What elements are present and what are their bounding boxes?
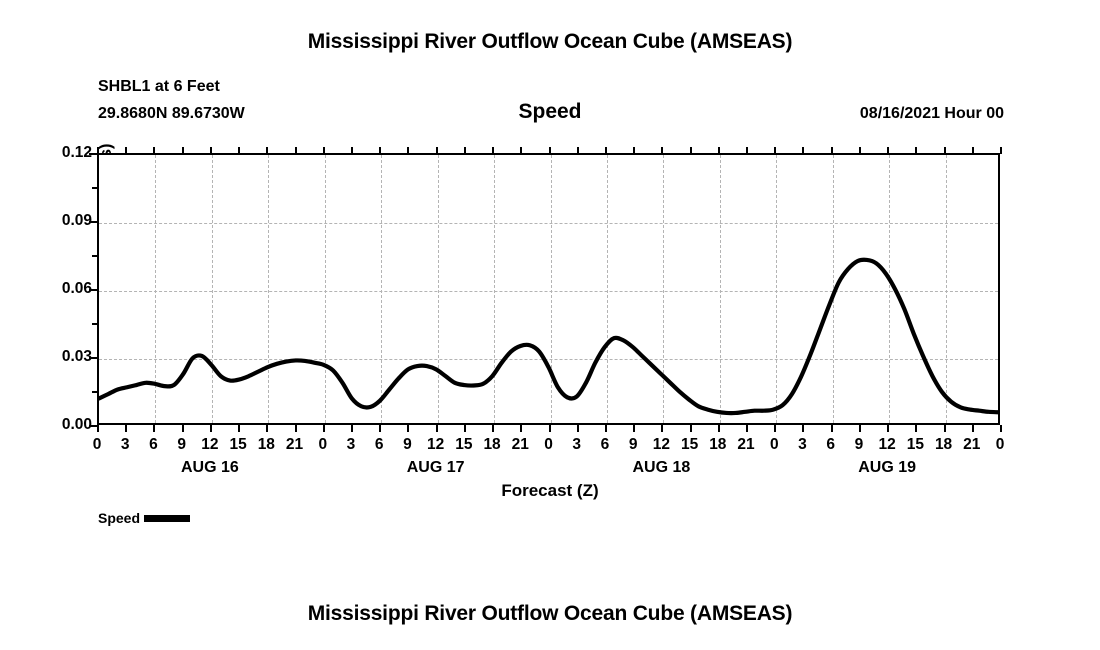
x-axis-tick-mark — [802, 425, 804, 432]
footer-title: Mississippi River Outflow Ocean Cube (AM… — [0, 602, 1100, 626]
x-axis-tick-mark — [661, 425, 663, 432]
x-axis-tick-mark — [859, 425, 861, 432]
speed-line-path — [99, 260, 998, 413]
y-axis-tick-label: 0.12 — [22, 144, 92, 162]
model-run-label: 08/16/2021 Hour 00 — [860, 105, 1004, 123]
x-axis-tick-mark — [1000, 425, 1002, 432]
x-axis-tick-mark — [605, 425, 607, 432]
x-axis-tick-mark — [295, 425, 297, 432]
x-axis-tick-mark — [492, 425, 494, 432]
x-axis-tick-mark — [351, 425, 353, 432]
x-axis-tick-mark — [774, 425, 776, 432]
x-axis-tick-mark — [944, 425, 946, 432]
y-axis-tick-label: 0.06 — [22, 280, 92, 298]
x-axis-tick-mark — [831, 425, 833, 432]
x-axis-day-label: AUG 17 — [366, 459, 506, 477]
x-axis-tick-mark — [182, 425, 184, 432]
x-axis-tick-mark — [379, 425, 381, 432]
plot-inner — [99, 155, 998, 423]
y-axis-tick-mark — [89, 425, 97, 427]
x-axis-tick-mark — [887, 425, 889, 432]
x-axis-tick-mark — [464, 425, 466, 432]
y-axis-tick-label: 0.09 — [22, 212, 92, 230]
x-axis-tick-mark — [915, 425, 917, 432]
page-title: Mississippi River Outflow Ocean Cube (AM… — [0, 30, 1100, 54]
y-axis-tick-label: 0.00 — [22, 416, 92, 434]
station-label: SHBL1 at 6 Feet — [98, 78, 220, 96]
y-axis-tick-mark — [89, 153, 97, 155]
x-axis-tick-label: 0 — [980, 436, 1020, 454]
plot-area — [97, 153, 1000, 425]
speed-series-line — [99, 155, 998, 423]
x-axis-tick-mark — [436, 425, 438, 432]
x-axis-tick-mark — [323, 425, 325, 432]
x-axis-day-label: AUG 19 — [817, 459, 957, 477]
chart-page: Mississippi River Outflow Ocean Cube (AM… — [0, 0, 1100, 650]
x-axis-tick-mark — [407, 425, 409, 432]
x-axis-tick-mark — [549, 425, 551, 432]
x-axis-tick-mark — [125, 425, 127, 432]
y-axis-tick-label: 0.03 — [22, 348, 92, 366]
legend: Speed — [98, 510, 190, 526]
x-axis-tick-mark — [153, 425, 155, 432]
x-axis-tick-mark — [633, 425, 635, 432]
x-axis-tick-mark — [690, 425, 692, 432]
x-axis-tick-mark-top — [1000, 147, 1002, 154]
y-axis-tick-mark — [89, 289, 97, 291]
legend-swatch-speed — [144, 515, 190, 522]
y-axis-tick-mark — [89, 357, 97, 359]
x-axis-day-label: AUG 18 — [591, 459, 731, 477]
y-axis-tick-mark — [89, 221, 97, 223]
x-axis-tick-mark — [266, 425, 268, 432]
x-axis-tick-mark — [238, 425, 240, 432]
legend-label-speed: Speed — [98, 510, 140, 526]
x-axis-tick-mark — [210, 425, 212, 432]
x-axis-tick-mark — [972, 425, 974, 432]
x-axis-tick-mark — [746, 425, 748, 432]
x-axis-tick-mark — [520, 425, 522, 432]
x-axis-tick-mark — [718, 425, 720, 432]
x-axis-tick-mark — [97, 425, 99, 432]
x-axis-tick-mark — [577, 425, 579, 432]
x-axis-day-label: AUG 16 — [140, 459, 280, 477]
x-axis-title: Forecast (Z) — [0, 481, 1100, 501]
